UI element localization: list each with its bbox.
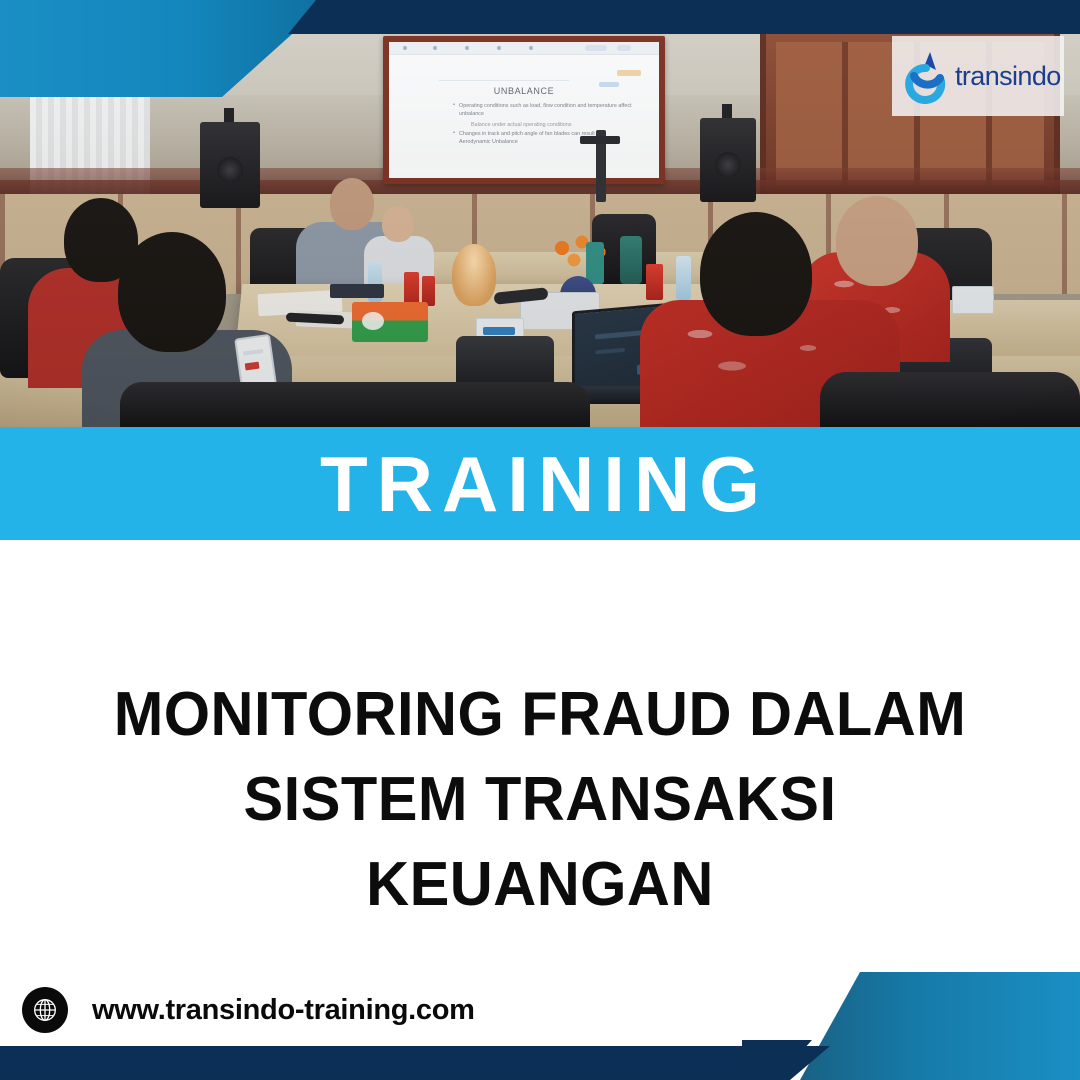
speaker-left (200, 122, 260, 208)
projection-screen: UNBALANCE Operating conditions such as l… (389, 42, 659, 178)
title-line-1: MONITORING FRAUD DALAM (22, 672, 1059, 757)
water-bottle (676, 256, 691, 300)
training-banner-label: TRAINING (320, 445, 769, 523)
poster-canvas: UNBALANCE Operating conditions such as l… (0, 0, 1080, 1080)
brand-logo-text: transindo (955, 63, 1061, 90)
slide-divider (439, 80, 569, 81)
training-photo: UNBALANCE Operating conditions such as l… (0, 0, 1080, 427)
slide-heading: UNBALANCE (389, 86, 659, 96)
office-chair-foreground (120, 382, 590, 427)
globe-icon (22, 987, 68, 1033)
water-bottle (586, 242, 604, 284)
drink-can (404, 272, 419, 306)
office-chair-foreground (820, 372, 1080, 427)
decor-bottom-navy-bar (0, 1046, 830, 1080)
drink-can (646, 264, 663, 300)
slide-browser-bar (389, 42, 659, 55)
training-banner: TRAINING (0, 427, 1080, 540)
website-url[interactable]: www.transindo-training.com (92, 994, 475, 1027)
speaker-right (700, 118, 756, 202)
footer-website-row[interactable]: www.transindo-training.com (22, 972, 475, 1048)
decor-top-navy-bar (288, 0, 1080, 34)
projection-screen-frame: UNBALANCE Operating conditions such as l… (383, 36, 665, 184)
notebook (330, 284, 384, 298)
title-line-3: KEUANGAN (22, 842, 1059, 927)
slide-bullet: Operating conditions such as load, flow … (453, 102, 633, 118)
small-box (952, 286, 994, 314)
poster-title: MONITORING FRAUD DALAM SISTEM TRANSAKSI … (0, 672, 1080, 927)
brand-logo: transindo (892, 36, 1064, 116)
aroma-diffuser (452, 244, 496, 306)
monitor-head (580, 136, 620, 144)
slide-bullet-sub: Balance under actual operating condition… (453, 121, 633, 129)
transindo-swoosh-arrow-logo (900, 48, 952, 104)
thermos-bottle (620, 236, 642, 284)
slide-chip-orange (617, 70, 641, 76)
title-line-2: SISTEM TRANSAKSI (22, 757, 1059, 842)
tissue-box (352, 302, 428, 342)
decor-bottom-right-gradient (770, 972, 1080, 1080)
